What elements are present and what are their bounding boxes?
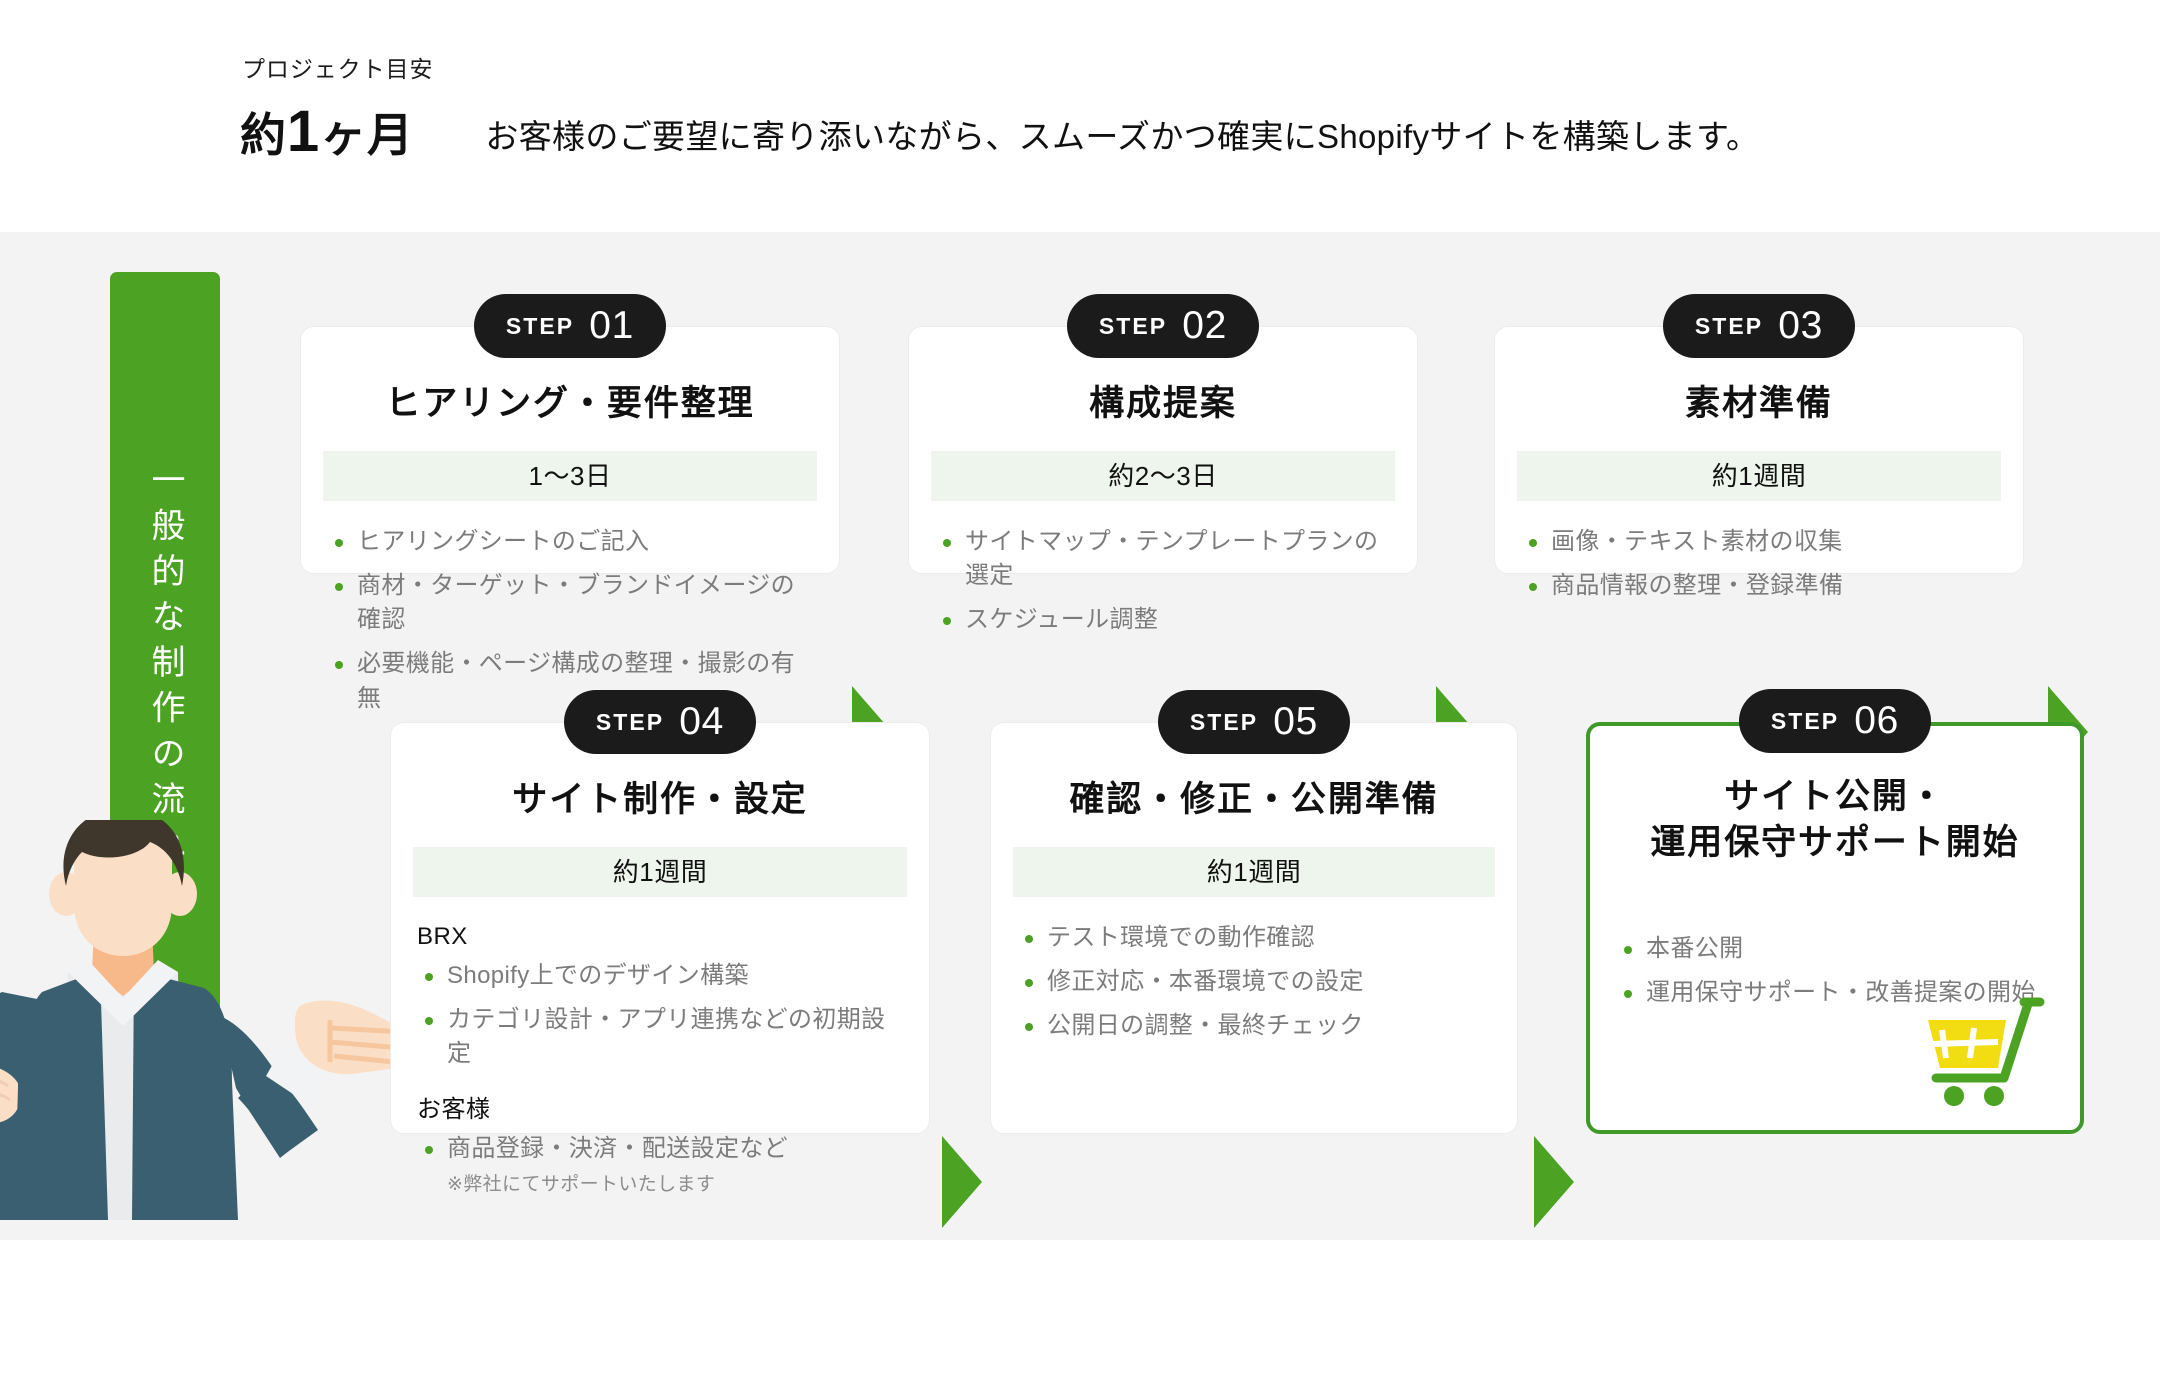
list-item: 商材・ターゲット・ブランドイメージの確認 [327, 569, 813, 637]
step-bullets-03: 画像・テキスト素材の収集 商品情報の整理・登録準備 [1521, 525, 1997, 603]
step-group-customer: お客様 商品登録・決済・配送設定など ※弊社にてサポートいたします [417, 1089, 903, 1195]
step-group-brx: BRX Shopify上でのデザイン構築 カテゴリ設計・アプリ連携などの初期設定 [417, 923, 903, 1071]
step-duration-02: 約2〜3日 [931, 451, 1395, 501]
step-badge-02: STEP 02 [1067, 294, 1259, 358]
group-label-brx: BRX [417, 923, 903, 951]
step-badge-label: STEP [1099, 313, 1167, 340]
list-item: 公開日の調整・最終チェック [1017, 1009, 1491, 1043]
step-badge-03: STEP 03 [1663, 294, 1855, 358]
step-badge-label: STEP [1771, 708, 1839, 735]
cart-glyph [1918, 996, 2046, 1106]
step-badge-label: STEP [1190, 709, 1258, 736]
step-duration-05: 約1週間 [1013, 847, 1495, 897]
step-badge-label: STEP [506, 313, 574, 340]
step-title-02: 構成提案 [909, 381, 1417, 427]
infographic-page: プロジェクト目安 約1ヶ月 お客様のご要望に寄り添いながら、スムーズかつ確実にS… [0, 0, 2160, 1392]
step-card-04: STEP 04 サイト制作・設定 約1週間 BRX Shopify上でのデザイン… [390, 722, 930, 1134]
duration-suffix: ヶ月 [320, 109, 414, 161]
step-title-06-line1: サイト公開・ [1590, 774, 2080, 820]
step-badge-number: 02 [1182, 304, 1227, 348]
list-item: 修正対応・本番環境での設定 [1017, 965, 1491, 999]
project-duration-block: プロジェクト目安 約1ヶ月 [240, 56, 433, 168]
page-header: プロジェクト目安 約1ヶ月 お客様のご要望に寄り添いながら、スムーズかつ確実にS… [0, 0, 2160, 232]
project-duration-kicker: プロジェクト目安 [240, 56, 433, 84]
step-bullets-04-brx: Shopify上でのデザイン構築 カテゴリ設計・アプリ連携などの初期設定 [417, 959, 903, 1071]
step-badge-04: STEP 04 [564, 690, 756, 754]
step-note-04: ※弊社にてサポートいたします [417, 1169, 903, 1196]
step-card-01: STEP 01 ヒアリング・要件整理 1〜3日 ヒアリングシートのご記入 商材・… [300, 326, 840, 574]
shopping-cart-icon [1918, 996, 2046, 1106]
step-bullets-02: サイトマップ・テンプレートプランの選定 スケジュール調整 [935, 525, 1391, 637]
duration-prefix: 約 [240, 109, 287, 161]
list-item: 本番公開 [1616, 932, 2054, 966]
duration-number: 1 [287, 99, 320, 164]
step-badge-number: 03 [1778, 304, 1823, 348]
step-badge-06: STEP 06 [1739, 689, 1931, 753]
list-item: スケジュール調整 [935, 603, 1391, 637]
step-badge-number: 04 [679, 700, 724, 744]
step-duration-04: 約1週間 [413, 847, 907, 897]
header-lead-text: お客様のご要望に寄り添いながら、スムーズかつ確実にShopifyサイトを構築しま… [485, 110, 1759, 168]
header-content: プロジェクト目安 約1ヶ月 お客様のご要望に寄り添いながら、スムーズかつ確実にS… [240, 56, 1759, 168]
list-item: サイトマップ・テンプレートプランの選定 [935, 525, 1391, 593]
step-duration-03: 約1週間 [1517, 451, 2001, 501]
step-badge-number: 05 [1273, 700, 1318, 744]
triangle-right-icon [938, 1134, 986, 1230]
list-item: テスト環境での動作確認 [1017, 921, 1491, 955]
group-label-customer: お客様 [417, 1089, 903, 1124]
person-illustration-icon [0, 820, 412, 1240]
list-item: ヒアリングシートのご記入 [327, 525, 813, 559]
consultant-illustration [0, 820, 412, 1240]
step-badge-05: STEP 05 [1158, 690, 1350, 754]
step-title-03: 素材準備 [1495, 381, 2023, 427]
triangle-right-icon [1530, 1134, 1578, 1230]
step-title-06-line2: 運用保守サポート開始 [1590, 820, 2080, 866]
project-duration-value: 約1ヶ月 [240, 96, 433, 169]
list-item: カテゴリ設計・アプリ連携などの初期設定 [417, 1003, 903, 1071]
flow-arrow-5 [1530, 1134, 1578, 1235]
step-title-05: 確認・修正・公開準備 [991, 777, 1517, 823]
step-badge-label: STEP [596, 709, 664, 736]
step-bullets-05: テスト環境での動作確認 修正対応・本番環境での設定 公開日の調整・最終チェック [1017, 921, 1491, 1043]
list-item: 商品情報の整理・登録準備 [1521, 569, 1997, 603]
step-card-02: STEP 02 構成提案 約2〜3日 サイトマップ・テンプレートプランの選定 ス… [908, 326, 1418, 574]
section-vertical-label-text: 一般的な制作の流れ [148, 462, 182, 872]
step-duration-01: 1〜3日 [323, 451, 817, 501]
step-badge-label: STEP [1695, 313, 1763, 340]
step-card-06: STEP 06 サイト公開・ 運用保守サポート開始 本番公開 運用保守サポート・… [1586, 722, 2084, 1134]
list-item: Shopify上でのデザイン構築 [417, 959, 903, 993]
flow-section: 一般的な制作の流れ [0, 232, 2160, 1240]
step-card-03: STEP 03 素材準備 約1週間 画像・テキスト素材の収集 商品情報の整理・登… [1494, 326, 2024, 574]
step-badge-01: STEP 01 [474, 294, 666, 358]
step-badge-number: 01 [589, 304, 634, 348]
step-title-06: サイト公開・ 運用保守サポート開始 [1590, 774, 2080, 866]
step-bullets-04-customer: 商品登録・決済・配送設定など [417, 1132, 903, 1166]
step-bullets-01: ヒアリングシートのご記入 商材・ターゲット・ブランドイメージの確認 必要機能・ペ… [327, 525, 813, 715]
list-item: 画像・テキスト素材の収集 [1521, 525, 1997, 559]
step-card-05: STEP 05 確認・修正・公開準備 約1週間 テスト環境での動作確認 修正対応… [990, 722, 1518, 1134]
step-title-01: ヒアリング・要件整理 [301, 381, 839, 427]
list-item: 商品登録・決済・配送設定など [417, 1132, 903, 1166]
flow-arrow-4 [938, 1134, 986, 1235]
step-title-04: サイト制作・設定 [391, 777, 929, 823]
step-badge-number: 06 [1854, 699, 1899, 743]
